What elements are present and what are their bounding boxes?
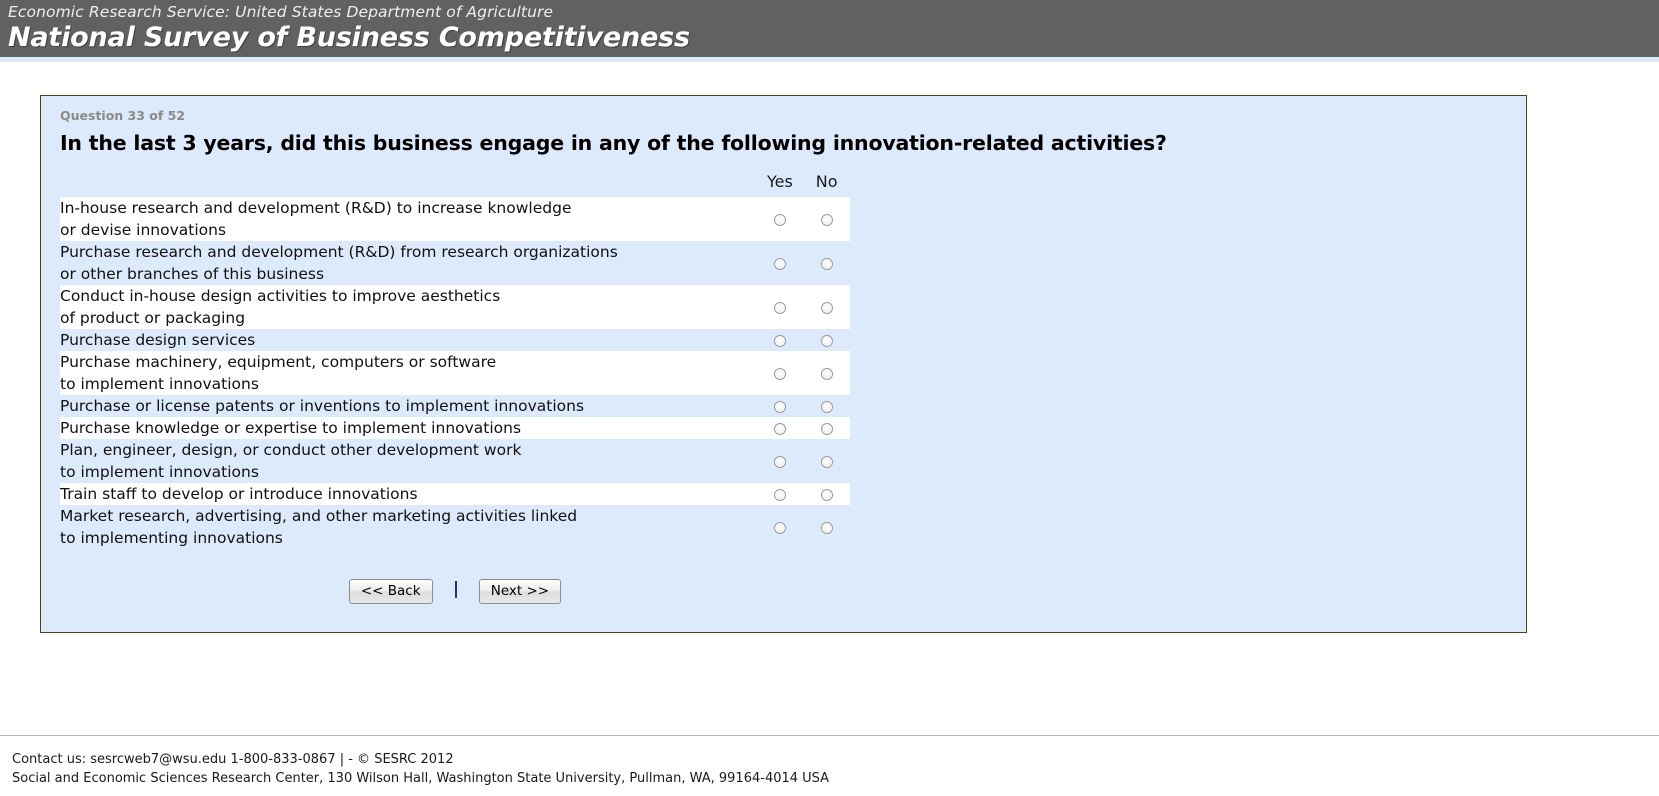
option-cell-no[interactable] bbox=[803, 483, 850, 505]
table-row: Plan, engineer, design, or conduct other… bbox=[60, 439, 850, 483]
radio-yes-row-3[interactable] bbox=[774, 302, 786, 314]
table-row: Purchase research and development (R&D) … bbox=[60, 241, 850, 285]
radio-no-row-2[interactable] bbox=[821, 258, 833, 270]
row-label: Market research, advertising, and other … bbox=[60, 505, 757, 549]
table-row: In-house research and development (R&D) … bbox=[60, 197, 850, 241]
radio-yes-row-4[interactable] bbox=[774, 335, 786, 347]
nav-row: << Back Next >> bbox=[60, 549, 850, 604]
question-counter: Question 33 of 52 bbox=[60, 108, 1526, 124]
row-label-line1: Plan, engineer, design, or conduct other… bbox=[60, 441, 521, 459]
radio-no-row-8[interactable] bbox=[821, 456, 833, 468]
option-cell-no[interactable] bbox=[803, 241, 850, 285]
radio-no-row-3[interactable] bbox=[821, 302, 833, 314]
option-cell-yes[interactable] bbox=[757, 395, 804, 417]
option-cell-yes[interactable] bbox=[757, 439, 804, 483]
row-label: Plan, engineer, design, or conduct other… bbox=[60, 439, 757, 483]
agency-line: Economic Research Service: United States… bbox=[8, 2, 1659, 22]
row-label-line2: to implement innovations bbox=[60, 461, 757, 483]
option-cell-yes[interactable] bbox=[757, 505, 804, 549]
footer-contact-line: Contact us: sesrcweb7@wsu.edu 1-800-833-… bbox=[12, 750, 1659, 769]
row-label: Purchase knowledge or expertise to imple… bbox=[60, 417, 757, 439]
option-cell-no[interactable] bbox=[803, 395, 850, 417]
radio-yes-row-8[interactable] bbox=[774, 456, 786, 468]
radio-yes-row-9[interactable] bbox=[774, 489, 786, 501]
option-cell-yes[interactable] bbox=[757, 241, 804, 285]
matrix-label-header bbox=[60, 172, 757, 197]
row-label-line2: to implementing innovations bbox=[60, 527, 757, 549]
option-cell-no[interactable] bbox=[803, 351, 850, 395]
option-cell-no[interactable] bbox=[803, 329, 850, 351]
table-row: Conduct in-house design activities to im… bbox=[60, 285, 850, 329]
option-cell-no[interactable] bbox=[803, 505, 850, 549]
row-label: Conduct in-house design activities to im… bbox=[60, 285, 757, 329]
row-label-line2: of product or packaging bbox=[60, 307, 757, 329]
row-label-line1: In-house research and development (R&D) … bbox=[60, 199, 571, 217]
back-button[interactable]: << Back bbox=[349, 579, 433, 604]
column-header-yes: Yes bbox=[757, 172, 804, 197]
radio-no-row-9[interactable] bbox=[821, 489, 833, 501]
radio-yes-row-10[interactable] bbox=[774, 522, 786, 534]
option-cell-no[interactable] bbox=[803, 439, 850, 483]
row-label-line2: or devise innovations bbox=[60, 219, 757, 241]
row-label-line2: or other branches of this business bbox=[60, 263, 757, 285]
row-label-line1: Conduct in-house design activities to im… bbox=[60, 287, 500, 305]
row-label-line1: Purchase research and development (R&D) … bbox=[60, 243, 618, 261]
radio-yes-row-6[interactable] bbox=[774, 401, 786, 413]
table-row: Market research, advertising, and other … bbox=[60, 505, 850, 549]
row-label-line1: Purchase or license patents or invention… bbox=[60, 397, 584, 415]
matrix-header-row: Yes No bbox=[60, 172, 850, 197]
radio-no-row-6[interactable] bbox=[821, 401, 833, 413]
radio-yes-row-5[interactable] bbox=[774, 368, 786, 380]
option-cell-yes[interactable] bbox=[757, 197, 804, 241]
radio-yes-row-7[interactable] bbox=[774, 423, 786, 435]
row-label-line2: to implement innovations bbox=[60, 373, 757, 395]
row-label-line1: Purchase design services bbox=[60, 331, 255, 349]
option-cell-yes[interactable] bbox=[757, 351, 804, 395]
option-cell-no[interactable] bbox=[803, 197, 850, 241]
row-label: Purchase machinery, equipment, computers… bbox=[60, 351, 757, 395]
site-title: National Survey of Business Competitiven… bbox=[8, 22, 1659, 54]
table-row: Purchase or license patents or invention… bbox=[60, 395, 850, 417]
radio-yes-row-1[interactable] bbox=[774, 214, 786, 226]
panel-wrap: Question 33 of 52 In the last 3 years, d… bbox=[0, 62, 1659, 633]
row-label: Purchase or license patents or invention… bbox=[60, 395, 757, 417]
question-title: In the last 3 years, did this business e… bbox=[60, 130, 1526, 156]
footer-address-line: Social and Economic Sciences Research Ce… bbox=[12, 769, 1659, 788]
row-label: Train staff to develop or introduce inno… bbox=[60, 483, 757, 505]
innovation-activities-matrix: Yes No In-house research and development… bbox=[60, 172, 850, 549]
radio-no-row-5[interactable] bbox=[821, 368, 833, 380]
site-header: Economic Research Service: United States… bbox=[0, 0, 1659, 57]
radio-no-row-7[interactable] bbox=[821, 423, 833, 435]
row-label-line1: Train staff to develop or introduce inno… bbox=[60, 485, 418, 503]
radio-no-row-1[interactable] bbox=[821, 214, 833, 226]
radio-no-row-4[interactable] bbox=[821, 335, 833, 347]
option-cell-no[interactable] bbox=[803, 285, 850, 329]
table-row: Purchase machinery, equipment, computers… bbox=[60, 351, 850, 395]
column-header-no: No bbox=[803, 172, 850, 197]
table-row: Train staff to develop or introduce inno… bbox=[60, 483, 850, 505]
nav-separator bbox=[455, 581, 457, 598]
row-label-line1: Purchase machinery, equipment, computers… bbox=[60, 353, 496, 371]
option-cell-yes[interactable] bbox=[757, 285, 804, 329]
question-panel: Question 33 of 52 In the last 3 years, d… bbox=[40, 95, 1527, 633]
row-label: Purchase design services bbox=[60, 329, 757, 351]
next-button[interactable]: Next >> bbox=[479, 579, 561, 604]
option-cell-yes[interactable] bbox=[757, 329, 804, 351]
option-cell-yes[interactable] bbox=[757, 417, 804, 439]
table-row: Purchase knowledge or expertise to imple… bbox=[60, 417, 850, 439]
row-label: Purchase research and development (R&D) … bbox=[60, 241, 757, 285]
table-row: Purchase design services bbox=[60, 329, 850, 351]
row-label: In-house research and development (R&D) … bbox=[60, 197, 757, 241]
page-footer: Contact us: sesrcweb7@wsu.edu 1-800-833-… bbox=[0, 735, 1659, 796]
row-label-line1: Purchase knowledge or expertise to imple… bbox=[60, 419, 521, 437]
option-cell-yes[interactable] bbox=[757, 483, 804, 505]
radio-yes-row-2[interactable] bbox=[774, 258, 786, 270]
option-cell-no[interactable] bbox=[803, 417, 850, 439]
row-label-line1: Market research, advertising, and other … bbox=[60, 507, 577, 525]
radio-no-row-10[interactable] bbox=[821, 522, 833, 534]
